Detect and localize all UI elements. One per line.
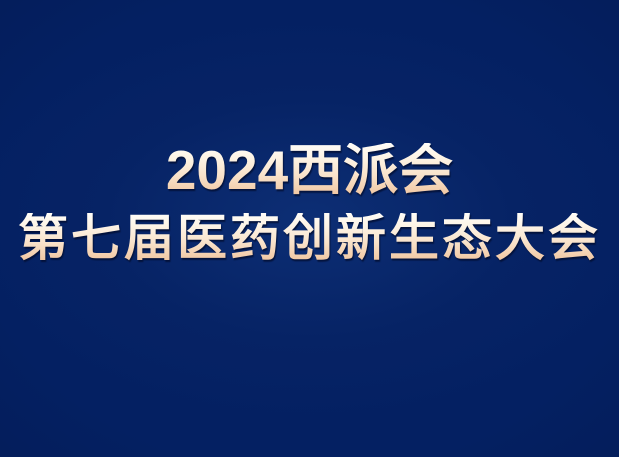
title-block: 2024西派会 第七届医药创新生态大会 (0, 143, 619, 263)
conference-title-primary: 2024西派会 (0, 143, 619, 198)
conference-title-secondary: 第七届医药创新生态大会 (0, 213, 619, 263)
title-card: 2024西派会 第七届医药创新生态大会 (0, 0, 619, 457)
